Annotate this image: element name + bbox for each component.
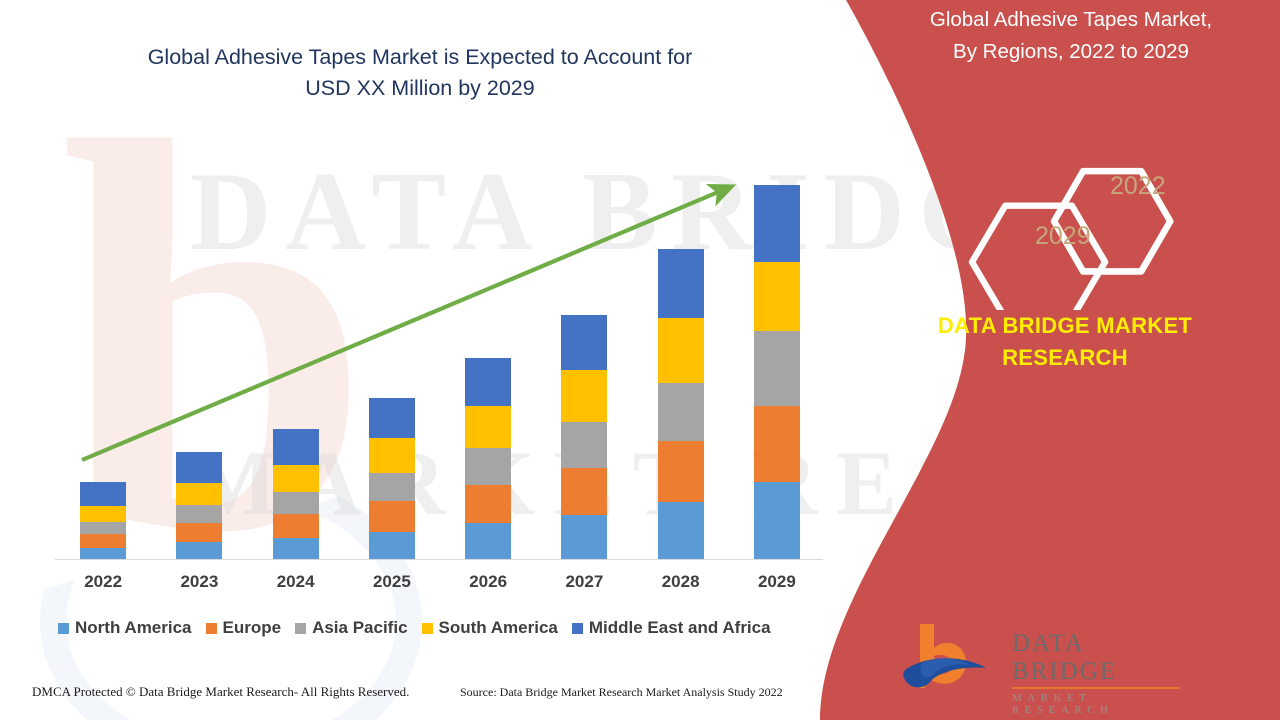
bar-segment[interactable] — [369, 532, 415, 560]
logo-title: DATA BRIDGE — [1012, 630, 1180, 686]
legend-swatch-icon — [422, 623, 433, 634]
chart-plot-area — [55, 120, 825, 560]
bar-segment[interactable] — [754, 185, 800, 262]
bar-segment[interactable] — [273, 429, 319, 464]
right-title-line-2: By Regions, 2022 to 2029 — [810, 36, 1280, 68]
bar-segment[interactable] — [273, 514, 319, 538]
bar-segment[interactable] — [658, 318, 704, 383]
bar-segment[interactable] — [561, 468, 607, 515]
bar-segment[interactable] — [658, 249, 704, 317]
chart-title-line-2: USD XX Million by 2029 — [305, 76, 534, 100]
chart-title: Global Adhesive Tapes Market is Expected… — [60, 42, 780, 104]
hexagon-group: 2022 2029 — [810, 150, 1280, 310]
bar-2026[interactable] — [465, 358, 511, 560]
chart-panel: Global Adhesive Tapes Market is Expected… — [0, 0, 860, 720]
bar-segment[interactable] — [658, 502, 704, 560]
bar-segment[interactable] — [176, 523, 222, 542]
x-axis-label-2022: 2022 — [63, 572, 143, 592]
right-title-line-1: Global Adhesive Tapes Market, — [810, 4, 1280, 36]
x-axis-line — [55, 559, 823, 560]
bar-segment[interactable] — [561, 515, 607, 560]
x-axis-label-2023: 2023 — [159, 572, 239, 592]
legend-swatch-icon — [572, 623, 583, 634]
bar-segment[interactable] — [369, 501, 415, 532]
brand-line-1: DATA BRIDGE MARKET — [938, 313, 1192, 338]
legend-item-south-america[interactable]: South America — [422, 618, 558, 638]
bar-2029[interactable] — [754, 185, 800, 560]
bar-segment[interactable] — [561, 315, 607, 370]
bar-segment[interactable] — [80, 506, 126, 522]
x-axis-label-2024: 2024 — [256, 572, 336, 592]
bar-2023[interactable] — [176, 452, 222, 560]
bar-segment[interactable] — [369, 438, 415, 472]
legend-swatch-icon — [58, 623, 69, 634]
bar-segment[interactable] — [176, 542, 222, 560]
bar-segment[interactable] — [658, 441, 704, 501]
logo-mark-icon — [900, 618, 1004, 692]
x-axis-label-2027: 2027 — [544, 572, 624, 592]
bar-2024[interactable] — [273, 429, 319, 560]
chart-title-line-1: Global Adhesive Tapes Market is Expected… — [148, 45, 693, 69]
legend-label: South America — [439, 618, 558, 638]
bar-segment[interactable] — [754, 262, 800, 330]
x-axis-label-2025: 2025 — [352, 572, 432, 592]
legend-label: North America — [75, 618, 192, 638]
right-red-panel: Global Adhesive Tapes Market, By Regions… — [810, 0, 1280, 720]
brand-line-2: RESEARCH — [1002, 345, 1128, 370]
legend-label: Asia Pacific — [312, 618, 407, 638]
logo-subtitle: MARKET RESEARCH — [1012, 692, 1180, 716]
bar-segment[interactable] — [273, 538, 319, 560]
bar-2022[interactable] — [80, 482, 126, 560]
bar-segment[interactable] — [465, 358, 511, 406]
legend-item-north-america[interactable]: North America — [58, 618, 192, 638]
bar-segment[interactable] — [176, 505, 222, 523]
legend-item-middle-east-and-africa[interactable]: Middle East and Africa — [572, 618, 771, 638]
logo-text-block: DATA BRIDGE MARKET RESEARCH — [1012, 630, 1180, 716]
x-axis-label-2029: 2029 — [737, 572, 817, 592]
bar-2025[interactable] — [369, 398, 415, 560]
bar-segment[interactable] — [561, 370, 607, 422]
legend-item-asia-pacific[interactable]: Asia Pacific — [295, 618, 407, 638]
bar-segment[interactable] — [369, 473, 415, 501]
bar-2028[interactable] — [658, 249, 704, 560]
source-note: Source: Data Bridge Market Research Mark… — [460, 685, 783, 700]
bar-segment[interactable] — [465, 523, 511, 560]
bar-segment[interactable] — [80, 482, 126, 506]
legend-swatch-icon — [206, 623, 217, 634]
bar-segment[interactable] — [80, 522, 126, 534]
legend-swatch-icon — [295, 623, 306, 634]
brand-name: DATA BRIDGE MARKET RESEARCH — [810, 310, 1280, 374]
dmca-notice: DMCA Protected © Data Bridge Market Rese… — [32, 684, 409, 700]
bar-segment[interactable] — [754, 406, 800, 481]
bar-segment[interactable] — [369, 398, 415, 438]
x-axis-label-2026: 2026 — [448, 572, 528, 592]
bar-segment[interactable] — [465, 448, 511, 484]
data-bridge-logo: DATA BRIDGE MARKET RESEARCH — [900, 618, 1170, 692]
bar-segment[interactable] — [176, 452, 222, 482]
bar-segment[interactable] — [561, 422, 607, 467]
legend-label: Europe — [223, 618, 282, 638]
footer: DMCA Protected © Data Bridge Market Rese… — [0, 684, 860, 708]
x-axis-labels: 20222023202420252026202720282029 — [55, 572, 825, 600]
chart-legend: North AmericaEuropeAsia PacificSouth Ame… — [58, 616, 838, 640]
right-panel-title: Global Adhesive Tapes Market, By Regions… — [810, 0, 1280, 68]
bar-segment[interactable] — [754, 331, 800, 406]
bar-segment[interactable] — [465, 406, 511, 448]
logo-divider — [1012, 687, 1180, 689]
legend-item-europe[interactable]: Europe — [206, 618, 282, 638]
bar-segment[interactable] — [273, 465, 319, 492]
bar-segment[interactable] — [176, 483, 222, 505]
hexagon-year-2022: 2022 — [1110, 172, 1166, 201]
bar-segment[interactable] — [658, 383, 704, 441]
bar-2027[interactable] — [561, 315, 607, 560]
bar-segment[interactable] — [273, 492, 319, 514]
hexagon-year-2029: 2029 — [1035, 222, 1091, 251]
x-axis-label-2028: 2028 — [641, 572, 721, 592]
bar-segment[interactable] — [754, 482, 800, 560]
bar-segment[interactable] — [80, 534, 126, 548]
bar-segment[interactable] — [465, 485, 511, 523]
legend-label: Middle East and Africa — [589, 618, 771, 638]
